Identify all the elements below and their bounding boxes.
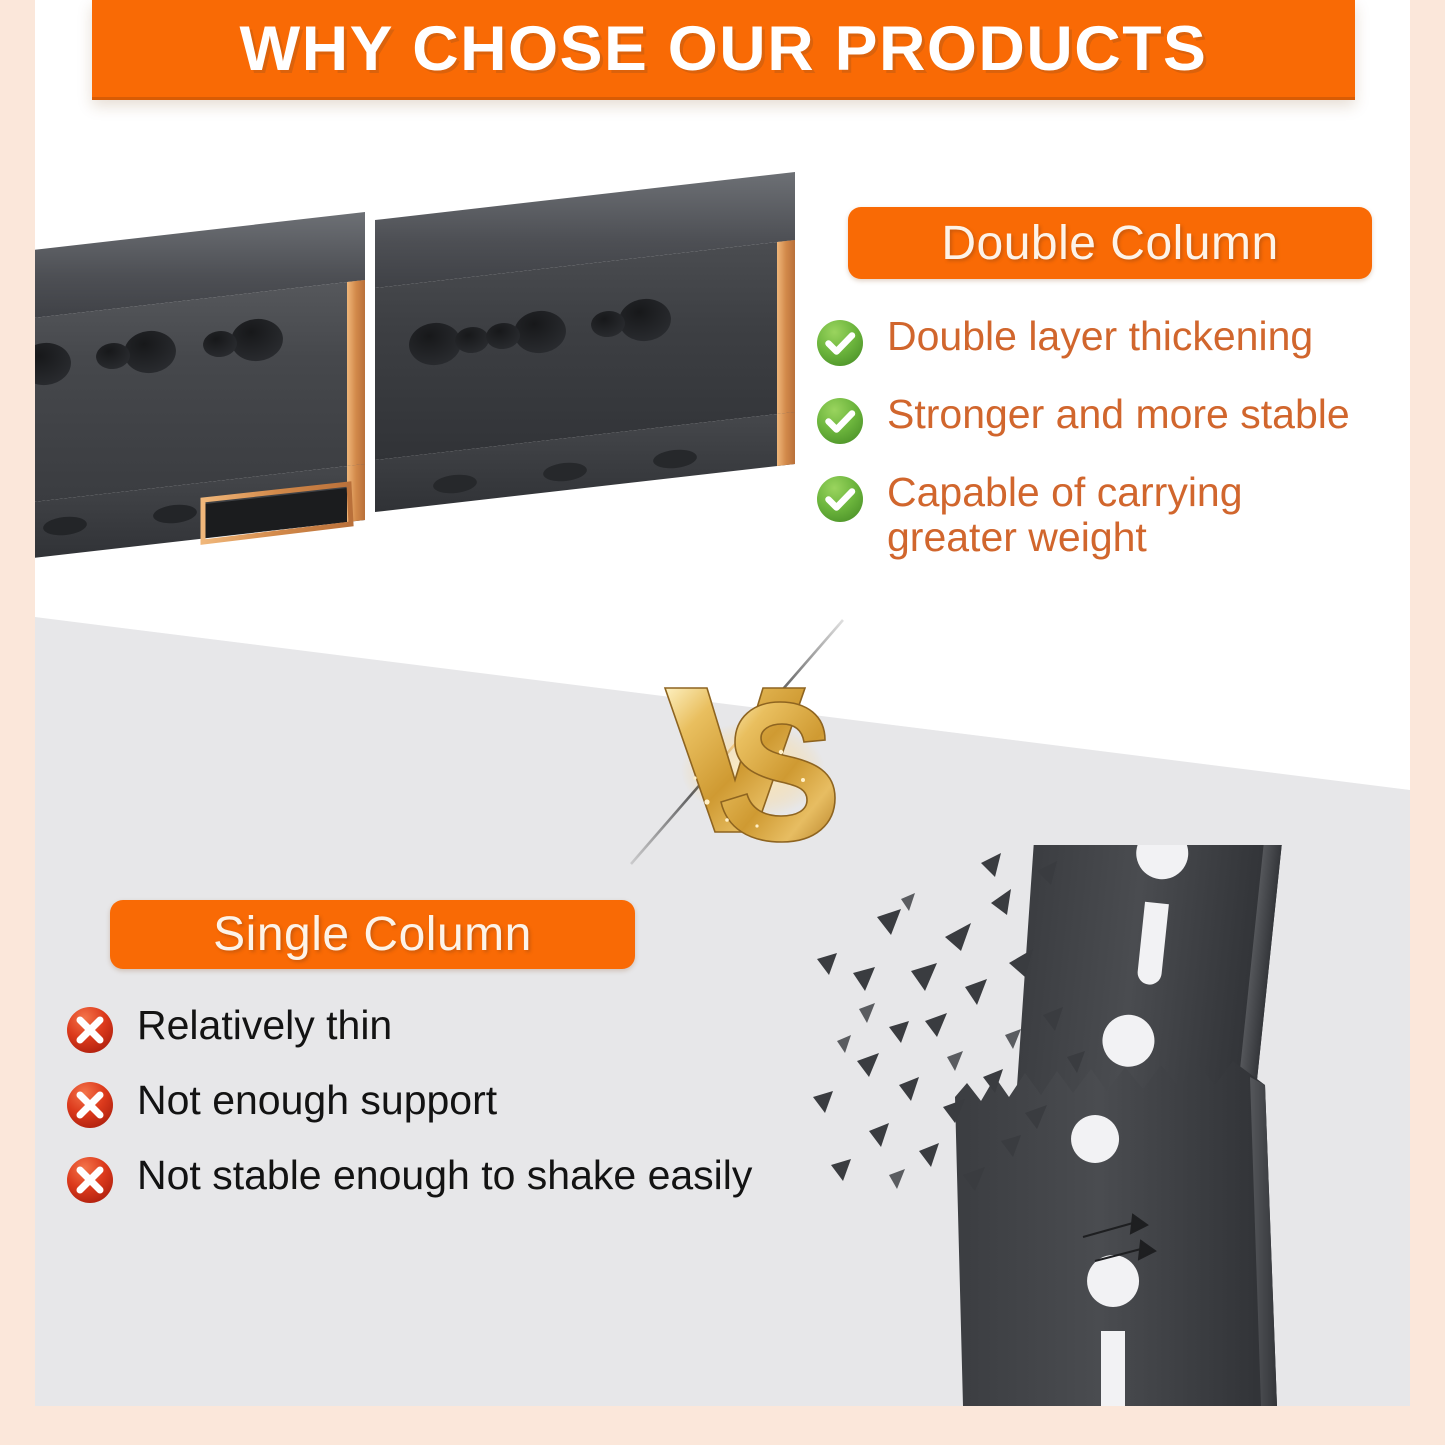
check-circle-icon — [815, 474, 865, 524]
list-item-label: Double layer thickening — [887, 314, 1313, 359]
list-item-label: Not stable enough to shake easily — [137, 1152, 752, 1198]
single-column-drawbacks-list: Relatively thin Not enough support — [65, 1005, 865, 1230]
check-circle-icon — [815, 396, 865, 446]
list-item: Double layer thickening — [815, 318, 1405, 368]
list-item: Stronger and more stable — [815, 396, 1405, 446]
list-item-label: Stronger and more stable — [887, 392, 1350, 437]
list-item: Not stable enough to shake easily — [65, 1155, 865, 1205]
single-column-badge-label: Single Column — [213, 907, 532, 962]
cross-circle-icon — [65, 1080, 115, 1130]
double-column-badge: Double Column — [848, 207, 1372, 279]
infographic-page: Double Column — [0, 0, 1445, 1445]
list-item-label: Capable of carrying greater weight — [887, 470, 1307, 560]
check-circle-icon — [815, 318, 865, 368]
page-title: WHY CHOSE OUR PRODUCTS — [240, 13, 1208, 85]
cross-circle-icon — [65, 1005, 115, 1055]
list-item: Not enough support — [65, 1080, 865, 1130]
list-item-label: Relatively thin — [137, 1002, 392, 1048]
broken-single-column-photo — [795, 845, 1410, 1406]
list-item: Relatively thin — [65, 1005, 865, 1055]
double-column-benefits-list: Double layer thickening Stronger and mor… — [815, 318, 1405, 588]
list-item: Capable of carrying greater weight — [815, 474, 1405, 560]
content-panel: Double Column — [35, 0, 1410, 1406]
double-column-badge-label: Double Column — [941, 216, 1278, 271]
list-item-label: Not enough support — [137, 1077, 497, 1123]
double-column-rails-photo — [35, 112, 825, 617]
cross-circle-icon — [65, 1155, 115, 1205]
versus-mark: VS — [635, 630, 895, 870]
single-column-badge: Single Column — [110, 900, 635, 969]
header-banner: WHY CHOSE OUR PRODUCTS — [92, 0, 1355, 100]
